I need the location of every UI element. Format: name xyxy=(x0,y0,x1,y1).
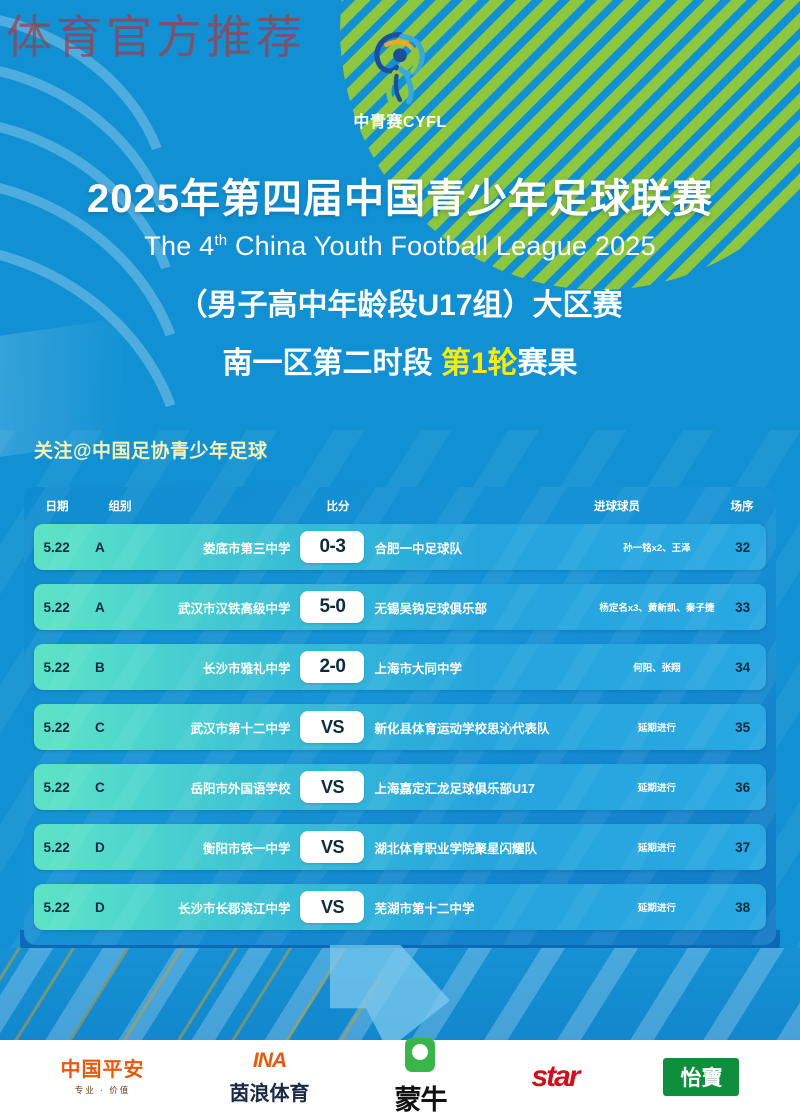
sponsor-yibao[interactable]: 怡寶 xyxy=(663,1058,739,1096)
score-pill: 5-0 xyxy=(300,591,364,623)
cell-scorer: 延期进行 xyxy=(594,720,719,734)
score-pill: 2-0 xyxy=(300,651,364,683)
home-team: 长沙市长郡滨江中学 xyxy=(120,898,300,917)
cell-match: 长沙市雅礼中学2-0上海市大同中学 xyxy=(120,651,594,683)
home-team: 岳阳市外国语学校 xyxy=(120,778,300,797)
cell-date: 5.22 xyxy=(34,900,79,915)
cell-scorer: 延期进行 xyxy=(594,840,719,854)
title-en-suffix: China Youth Football League 2025 xyxy=(227,231,655,261)
away-team: 湖北体育职业学院聚星闪耀队 xyxy=(364,838,594,857)
poster-canvas: 体育官方推荐 中青赛CYFL 2025年第四届中国青少年足球联赛 The 4th… xyxy=(0,0,800,1114)
logo-wordmark: 中青赛CYFL xyxy=(353,108,446,132)
cell-scorer: 延期进行 xyxy=(594,780,719,794)
cell-group: D xyxy=(79,900,120,915)
score-pill: VS xyxy=(300,771,364,803)
cell-order: 35 xyxy=(719,720,766,735)
away-team: 芜湖市第十二中学 xyxy=(364,898,594,917)
subtitle-round: 南一区第二时段 第1轮赛果 xyxy=(0,338,800,382)
cell-order: 34 xyxy=(719,660,766,675)
sponsor-mengniu-name: 蒙牛 xyxy=(394,1078,446,1117)
table-row: 5.22A娄底市第三中学0-3合肥一中足球队孙一铭x2、王泽32 xyxy=(34,524,766,570)
results-table-panel: 日期 组别 比分 进球球员 场序 5.22A娄底市第三中学0-3合肥一中足球队孙… xyxy=(24,487,776,945)
home-team: 武汉市第十二中学 xyxy=(120,718,300,737)
sponsor-ping-an[interactable]: 中国平安 专业 · 价值 xyxy=(60,1059,144,1096)
cell-date: 5.22 xyxy=(34,540,79,555)
home-team: 武汉市汉铁高级中学 xyxy=(120,598,300,617)
cell-group: B xyxy=(79,660,120,675)
cell-order: 38 xyxy=(719,900,766,915)
table-row: 5.22C武汉市第十二中学VS新化县体育运动学校思沁代表队延期进行35 xyxy=(34,704,766,750)
score-pill: 0-3 xyxy=(300,531,364,563)
home-team: 衡阳市铁一中学 xyxy=(120,838,300,857)
cell-scorer: 何阳、张翔 xyxy=(594,660,719,674)
score-pill: VS xyxy=(300,891,364,923)
home-team: 娄底市第三中学 xyxy=(120,538,300,557)
away-team: 上海市大同中学 xyxy=(364,658,594,677)
cyfl-emblem-icon xyxy=(357,26,443,112)
header-group: 组别 xyxy=(90,498,150,514)
cell-date: 5.22 xyxy=(34,720,79,735)
sponsor-mengniu[interactable]: 蒙牛 xyxy=(394,1038,446,1117)
sponsor-yibao-name: 怡寶 xyxy=(680,1062,722,1092)
sponsor-inna-name: 茵浪体育 xyxy=(229,1077,309,1106)
sponsor-star[interactable]: star xyxy=(531,1060,578,1094)
header-scorer: 进球球员 xyxy=(526,498,708,514)
cell-group: A xyxy=(79,540,120,555)
cell-match: 武汉市汉铁高级中学5-0无锡吴钩足球俱乐部 xyxy=(120,591,594,623)
sponsor-ping-an-name: 中国平安 xyxy=(60,1059,144,1081)
cell-order: 37 xyxy=(719,840,766,855)
cell-match: 衡阳市铁一中学VS湖北体育职业学院聚星闪耀队 xyxy=(120,831,594,863)
cell-order: 33 xyxy=(719,600,766,615)
header-date: 日期 xyxy=(24,498,90,514)
header-score: 比分 xyxy=(150,498,526,514)
away-team: 新化县体育运动学校思沁代表队 xyxy=(364,718,594,737)
cell-scorer: 孙一铭x2、王泽 xyxy=(594,540,719,554)
table-row: 5.22A武汉市汉铁高级中学5-0无锡吴钩足球俱乐部杨定名x3、黄新凯、秦子捷3… xyxy=(34,584,766,630)
cell-order: 32 xyxy=(719,540,766,555)
follow-account-text: 关注@中国足协青少年足球 xyxy=(34,436,268,463)
cell-date: 5.22 xyxy=(34,600,79,615)
sponsor-inna-sports[interactable]: INA 茵浪体育 xyxy=(229,1049,309,1106)
header-order: 场序 xyxy=(708,498,776,514)
cell-date: 5.22 xyxy=(34,660,79,675)
cell-scorer: 杨定名x3、黄新凯、秦子捷 xyxy=(594,600,719,614)
table-row: 5.22D长沙市长郡滨江中学VS芜湖市第十二中学延期进行38 xyxy=(34,884,766,930)
score-pill: VS xyxy=(300,711,364,743)
away-team: 无锡吴钩足球俱乐部 xyxy=(364,598,594,617)
table-body: 5.22A娄底市第三中学0-3合肥一中足球队孙一铭x2、王泽325.22A武汉市… xyxy=(24,524,776,930)
table-row: 5.22C岳阳市外国语学校VS上海嘉定汇龙足球俱乐部U17延期进行36 xyxy=(34,764,766,810)
cell-group: C xyxy=(79,720,120,735)
cell-group: A xyxy=(79,600,120,615)
cell-group: D xyxy=(79,840,120,855)
title-block: 2025年第四届中国青少年足球联赛 The 4th China Youth Fo… xyxy=(0,176,800,382)
sponsor-footer: 中国平安 专业 · 价值 INA 茵浪体育 蒙牛 star 怡寶 xyxy=(0,1040,800,1114)
main-title-cn: 2025年第四届中国青少年足球联赛 xyxy=(0,176,800,223)
subtitle-round-suffix: 赛果 xyxy=(518,347,578,380)
cell-group: C xyxy=(79,780,120,795)
watermark-text: 体育官方推荐 xyxy=(6,1,306,67)
sponsor-inna-mark: INA xyxy=(253,1049,286,1073)
home-team: 长沙市雅礼中学 xyxy=(120,658,300,677)
score-pill: VS xyxy=(300,831,364,863)
away-team: 合肥一中足球队 xyxy=(364,538,594,557)
main-title-en: The 4th China Youth Football League 2025 xyxy=(0,231,800,262)
table-header-row: 日期 组别 比分 进球球员 场序 xyxy=(24,487,776,524)
subtitle-category: （男子高中年龄段U17组）大区赛 xyxy=(0,280,800,324)
sponsor-star-name: star xyxy=(531,1060,578,1094)
cell-date: 5.22 xyxy=(34,780,79,795)
cell-match: 武汉市第十二中学VS新化县体育运动学校思沁代表队 xyxy=(120,711,594,743)
cell-match: 长沙市长郡滨江中学VS芜湖市第十二中学 xyxy=(120,891,594,923)
title-en-ordinal: th xyxy=(214,232,227,249)
subtitle-round-prefix: 南一区第二时段 xyxy=(222,347,440,380)
title-en-prefix: The 4 xyxy=(144,231,214,261)
subtitle-round-highlight: 第1轮 xyxy=(441,347,518,380)
cell-match: 娄底市第三中学0-3合肥一中足球队 xyxy=(120,531,594,563)
cell-order: 36 xyxy=(719,780,766,795)
table-row: 5.22B长沙市雅礼中学2-0上海市大同中学何阳、张翔34 xyxy=(34,644,766,690)
sponsor-ping-an-tagline: 专业 · 价值 xyxy=(75,1084,131,1096)
cell-match: 岳阳市外国语学校VS上海嘉定汇龙足球俱乐部U17 xyxy=(120,771,594,803)
cell-scorer: 延期进行 xyxy=(594,900,719,914)
cell-date: 5.22 xyxy=(34,840,79,855)
table-row: 5.22D衡阳市铁一中学VS湖北体育职业学院聚星闪耀队延期进行37 xyxy=(34,824,766,870)
away-team: 上海嘉定汇龙足球俱乐部U17 xyxy=(364,778,594,797)
mengniu-badge-icon xyxy=(405,1038,435,1072)
